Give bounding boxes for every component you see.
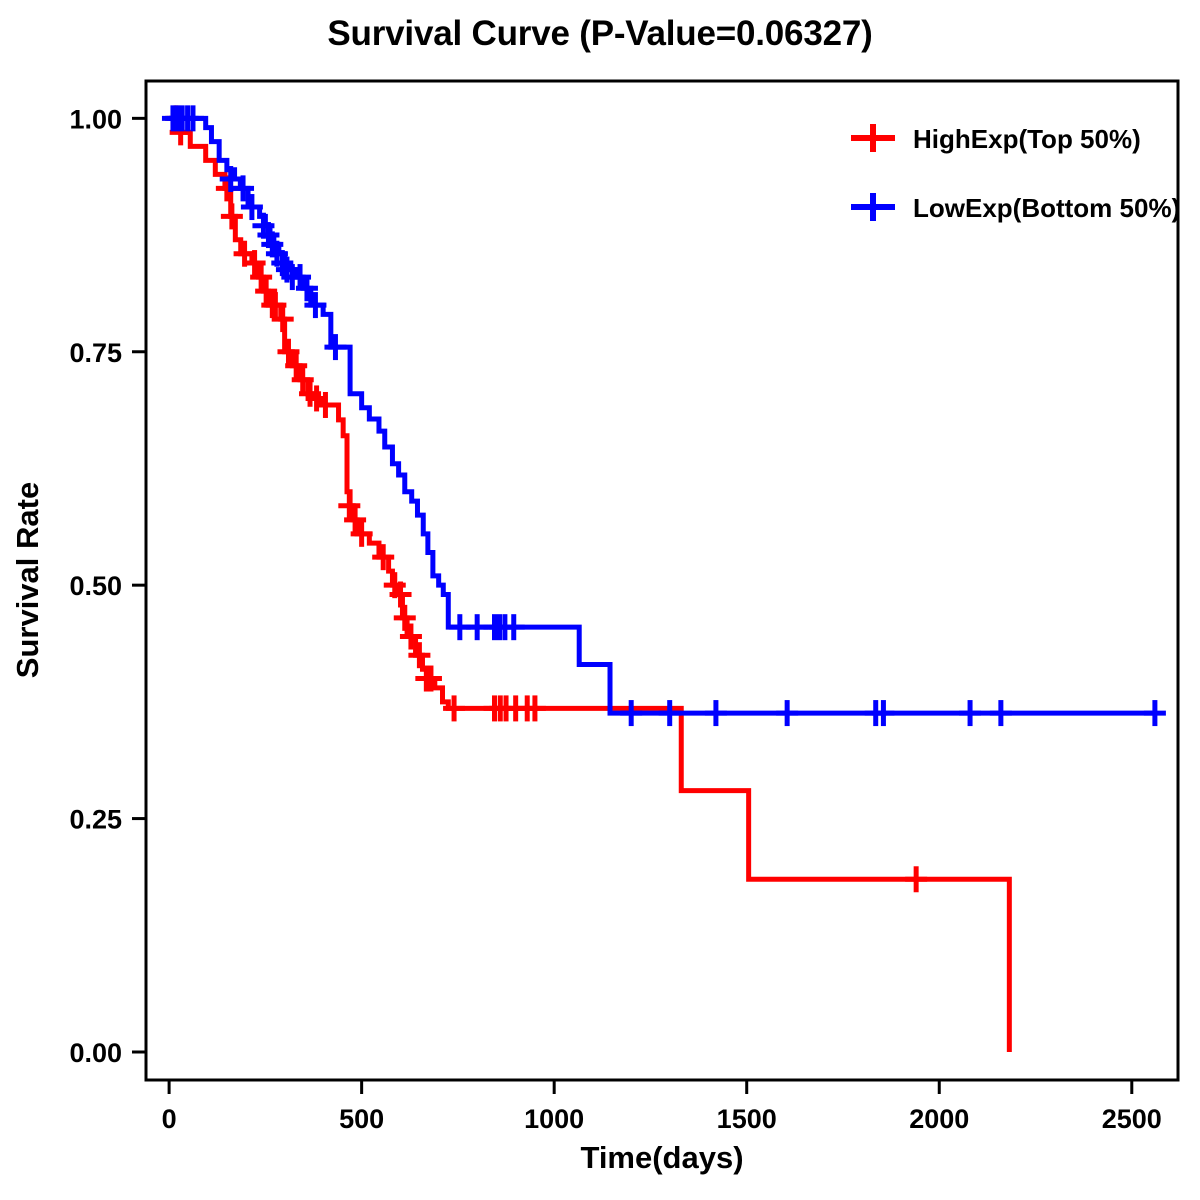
x-axis-tick-labels: 05001000150020002500 — [162, 1104, 1162, 1134]
survival-plot: 05001000150020002500 0.000.250.500.751.0… — [0, 0, 1200, 1200]
x-tick-label: 500 — [339, 1104, 384, 1134]
legend-label: HighExp(Top 50%) — [913, 124, 1141, 154]
x-tick-label: 1500 — [717, 1104, 777, 1134]
plot-frame — [146, 81, 1178, 1080]
x-axis-ticks — [169, 1080, 1132, 1094]
y-tick-label: 1.00 — [69, 104, 122, 134]
y-tick-label: 0.75 — [69, 338, 122, 368]
x-tick-label: 0 — [162, 1104, 177, 1134]
series-layer — [162, 105, 1166, 1052]
y-axis-ticks — [132, 118, 146, 1052]
x-tick-label: 2500 — [1102, 1104, 1162, 1134]
y-tick-label: 0.25 — [69, 805, 122, 835]
x-tick-label: 1000 — [524, 1104, 584, 1134]
y-tick-label: 0.50 — [69, 571, 122, 601]
y-tick-label: 0.00 — [69, 1038, 122, 1068]
km-curve-high — [169, 118, 1009, 1052]
censor-marks-high — [165, 105, 927, 892]
survival-chart-page: Survival Curve (P-Value=0.06327) 0500100… — [0, 0, 1200, 1200]
x-tick-label: 2000 — [909, 1104, 969, 1134]
chart-legend: HighExp(Top 50%)LowExp(Bottom 50%) — [851, 124, 1180, 223]
y-axis-tick-labels: 0.000.250.500.751.00 — [69, 104, 122, 1068]
y-axis-title: Survival Rate — [10, 482, 45, 678]
x-axis-title: Time(days) — [580, 1140, 743, 1175]
legend-label: LowExp(Bottom 50%) — [913, 193, 1180, 223]
